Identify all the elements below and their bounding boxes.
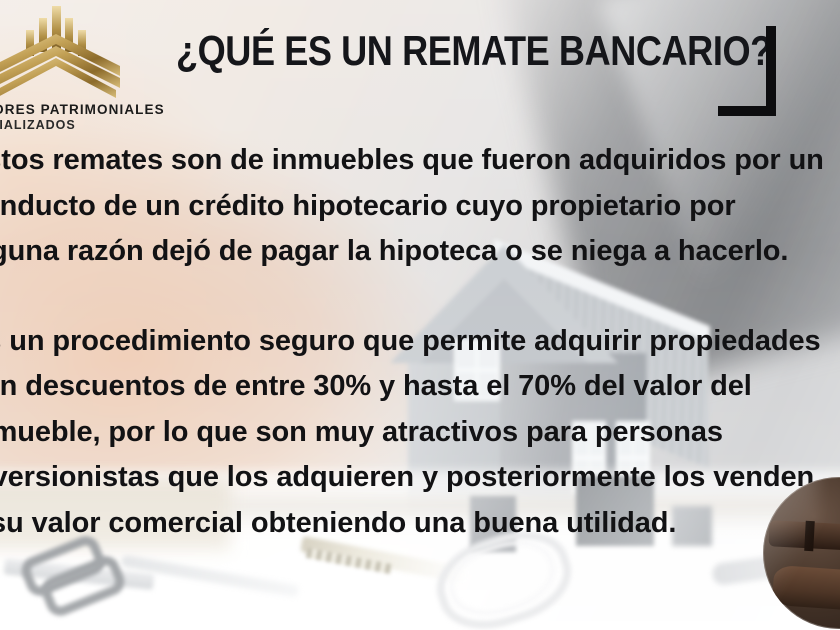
page-title: ¿QUÉ ES UN REMATE BANCARIO? (176, 30, 772, 72)
bracket-horizontal-bar (718, 106, 776, 116)
brand-logo: ASESORES PATRIMONIALES ESPECIALIZADOS (0, 4, 144, 132)
logo-text-line-2: ESPECIALIZADOS (0, 118, 144, 132)
paragraph2-line5: a su valor comercial obteniendo una buen… (0, 501, 840, 547)
gavel-photo-gleam (763, 477, 819, 629)
paragraph2-line2: con descuentos de entre 30% y hasta el 7… (0, 364, 840, 410)
logo-text-line-1: ASESORES PATRIMONIALES (0, 102, 144, 117)
paragraph1-line3: alguna razón dejó de pagar la hipoteca o… (0, 229, 840, 275)
body-copy: Estos remates son de inmuebles que fuero… (0, 138, 840, 546)
tower-chevron-logo-mark (0, 4, 132, 100)
paragraph1-line2: conducto de un crédito hipotecario cuyo … (0, 184, 840, 230)
bracket-vertical-bar (766, 26, 776, 116)
slide-canvas: ASESORES PATRIMONIALES ESPECIALIZADOS ¿Q… (0, 0, 840, 630)
paragraph2-line4: inversionistas que los adquieren y poste… (0, 455, 840, 501)
corner-bracket-decoration (718, 26, 776, 116)
paragraph-spacer (0, 275, 840, 319)
paragraph2-line3: inmueble, por lo que son muy atractivos … (0, 410, 840, 456)
paragraph2-line1: Es un procedimiento seguro que permite a… (0, 319, 840, 365)
gavel-photo-circle (763, 477, 840, 629)
paragraph1-line1: Estos remates son de inmuebles que fuero… (0, 138, 840, 184)
